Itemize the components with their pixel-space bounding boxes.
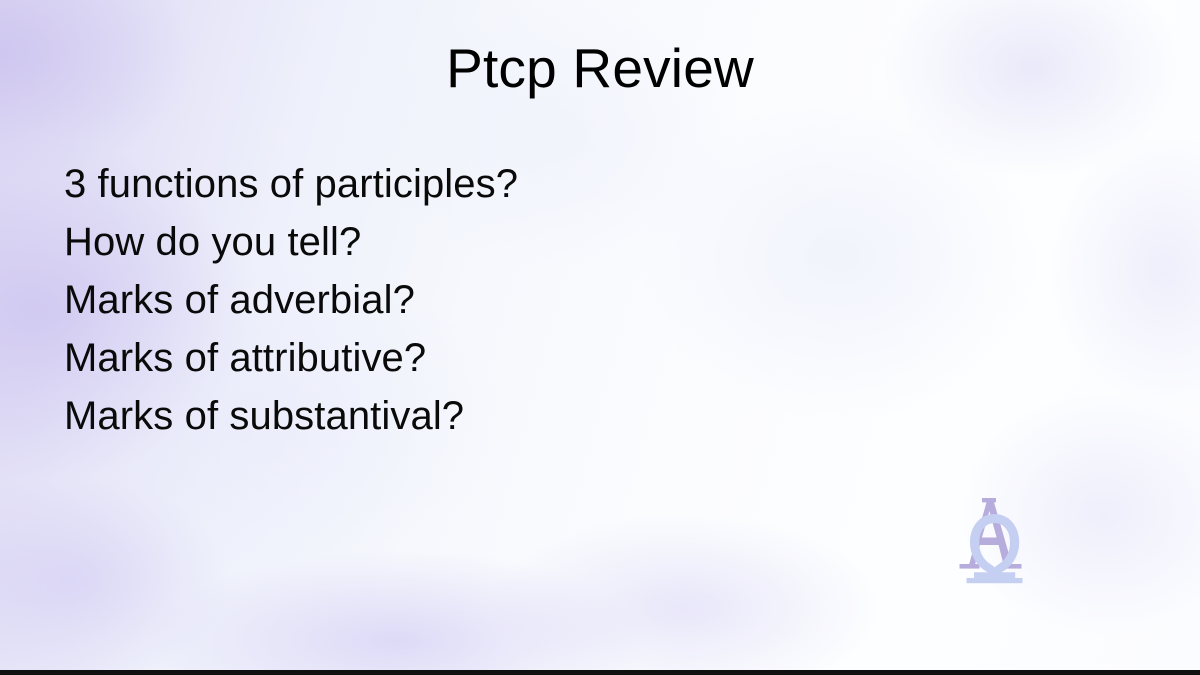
alpha-omega-logo-icon [932,494,1064,592]
body-line: Marks of attributive? [64,329,964,387]
slide-body-list: 3 functions of participles? How do you t… [64,155,964,445]
body-line: Marks of substantival? [64,387,964,445]
bottom-rule [0,670,1200,675]
body-line: 3 functions of participles? [64,155,964,213]
slide-title: Ptcp Review [0,40,1200,98]
body-line: How do you tell? [64,213,964,271]
presentation-slide: Ptcp Review 3 functions of participles? … [0,0,1200,675]
body-line: Marks of adverbial? [64,271,964,329]
